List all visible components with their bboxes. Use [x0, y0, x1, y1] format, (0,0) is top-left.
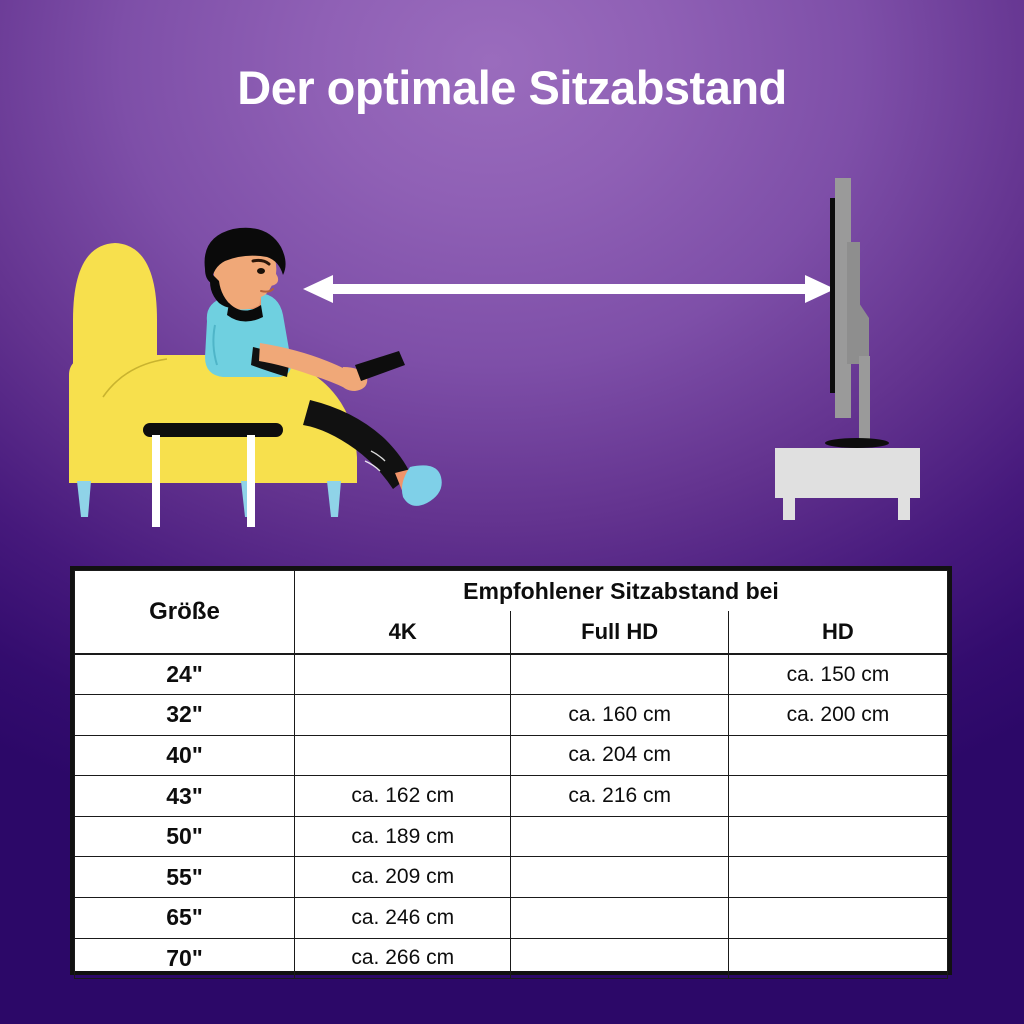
chair-leg-right: [327, 481, 341, 517]
footstool-top: [143, 423, 283, 437]
table-row: 43" ca. 162 cm ca. 216 cm: [75, 776, 948, 817]
person-sitting-in-armchair: [55, 225, 455, 530]
page-title: Der optimale Sitzabstand: [0, 62, 1024, 114]
cell-size: 32": [75, 695, 295, 736]
cell-size: 40": [75, 735, 295, 776]
television-on-stand: [735, 160, 975, 530]
cell-fullhd: ca. 204 cm: [511, 735, 728, 776]
cell-4k: ca. 209 cm: [294, 857, 511, 898]
tv-cabinet: [775, 448, 920, 498]
cell-fullhd: [511, 938, 728, 979]
cell-size: 70": [75, 938, 295, 979]
footstool-leg-right: [247, 435, 255, 527]
table-row: 24" ca. 150 cm: [75, 654, 948, 695]
infographic-page: Der optimale Sitzabstand: [0, 0, 1024, 1024]
table-header-size: Größe: [75, 571, 295, 655]
cell-4k: ca. 246 cm: [294, 898, 511, 939]
chair-leg-left: [77, 481, 91, 517]
tv-housing: [857, 300, 869, 362]
cell-4k: [294, 695, 511, 736]
cell-4k: [294, 654, 511, 695]
tv-remote-control: [355, 351, 405, 381]
cell-fullhd: [511, 857, 728, 898]
viewing-distance-table: Größe Empfohlener Sitzabstand bei 4K Ful…: [70, 566, 952, 975]
cell-fullhd: ca. 216 cm: [511, 776, 728, 817]
cell-size: 50": [75, 816, 295, 857]
tv-pedestal-neck: [859, 356, 870, 442]
tv-cabinet-leg-right: [898, 498, 910, 520]
cell-hd: [728, 938, 947, 979]
tv-cabinet-leg-left: [783, 498, 795, 520]
table-header-fullhd: Full HD: [511, 611, 728, 654]
table-row: 65" ca. 246 cm: [75, 898, 948, 939]
tv-screen-edge: [830, 198, 835, 393]
cell-hd: [728, 898, 947, 939]
person-sock: [402, 465, 442, 506]
table-header-4k: 4K: [294, 611, 511, 654]
cell-fullhd: [511, 654, 728, 695]
cell-4k: ca. 189 cm: [294, 816, 511, 857]
table-row: 40" ca. 204 cm: [75, 735, 948, 776]
table-header-group: Empfohlener Sitzabstand bei: [294, 571, 947, 612]
tv-base-plate: [825, 438, 889, 448]
cell-fullhd: [511, 816, 728, 857]
cell-hd: [728, 776, 947, 817]
cell-size: 43": [75, 776, 295, 817]
cell-hd: [728, 857, 947, 898]
cell-hd: ca. 200 cm: [728, 695, 947, 736]
cell-4k: [294, 735, 511, 776]
cell-hd: ca. 150 cm: [728, 654, 947, 695]
table-row: 55" ca. 209 cm: [75, 857, 948, 898]
table-row: 32" ca. 160 cm ca. 200 cm: [75, 695, 948, 736]
cell-fullhd: ca. 160 cm: [511, 695, 728, 736]
table-row: 50" ca. 189 cm: [75, 816, 948, 857]
cell-fullhd: [511, 898, 728, 939]
cell-size: 55": [75, 857, 295, 898]
footstool-leg-left: [152, 435, 160, 527]
cell-size: 65": [75, 898, 295, 939]
cell-4k: ca. 266 cm: [294, 938, 511, 979]
cell-hd: [728, 735, 947, 776]
table-header-hd: HD: [728, 611, 947, 654]
table-row: 70" ca. 266 cm: [75, 938, 948, 979]
cell-4k: ca. 162 cm: [294, 776, 511, 817]
cell-size: 24": [75, 654, 295, 695]
cell-hd: [728, 816, 947, 857]
person-eye: [257, 268, 265, 274]
